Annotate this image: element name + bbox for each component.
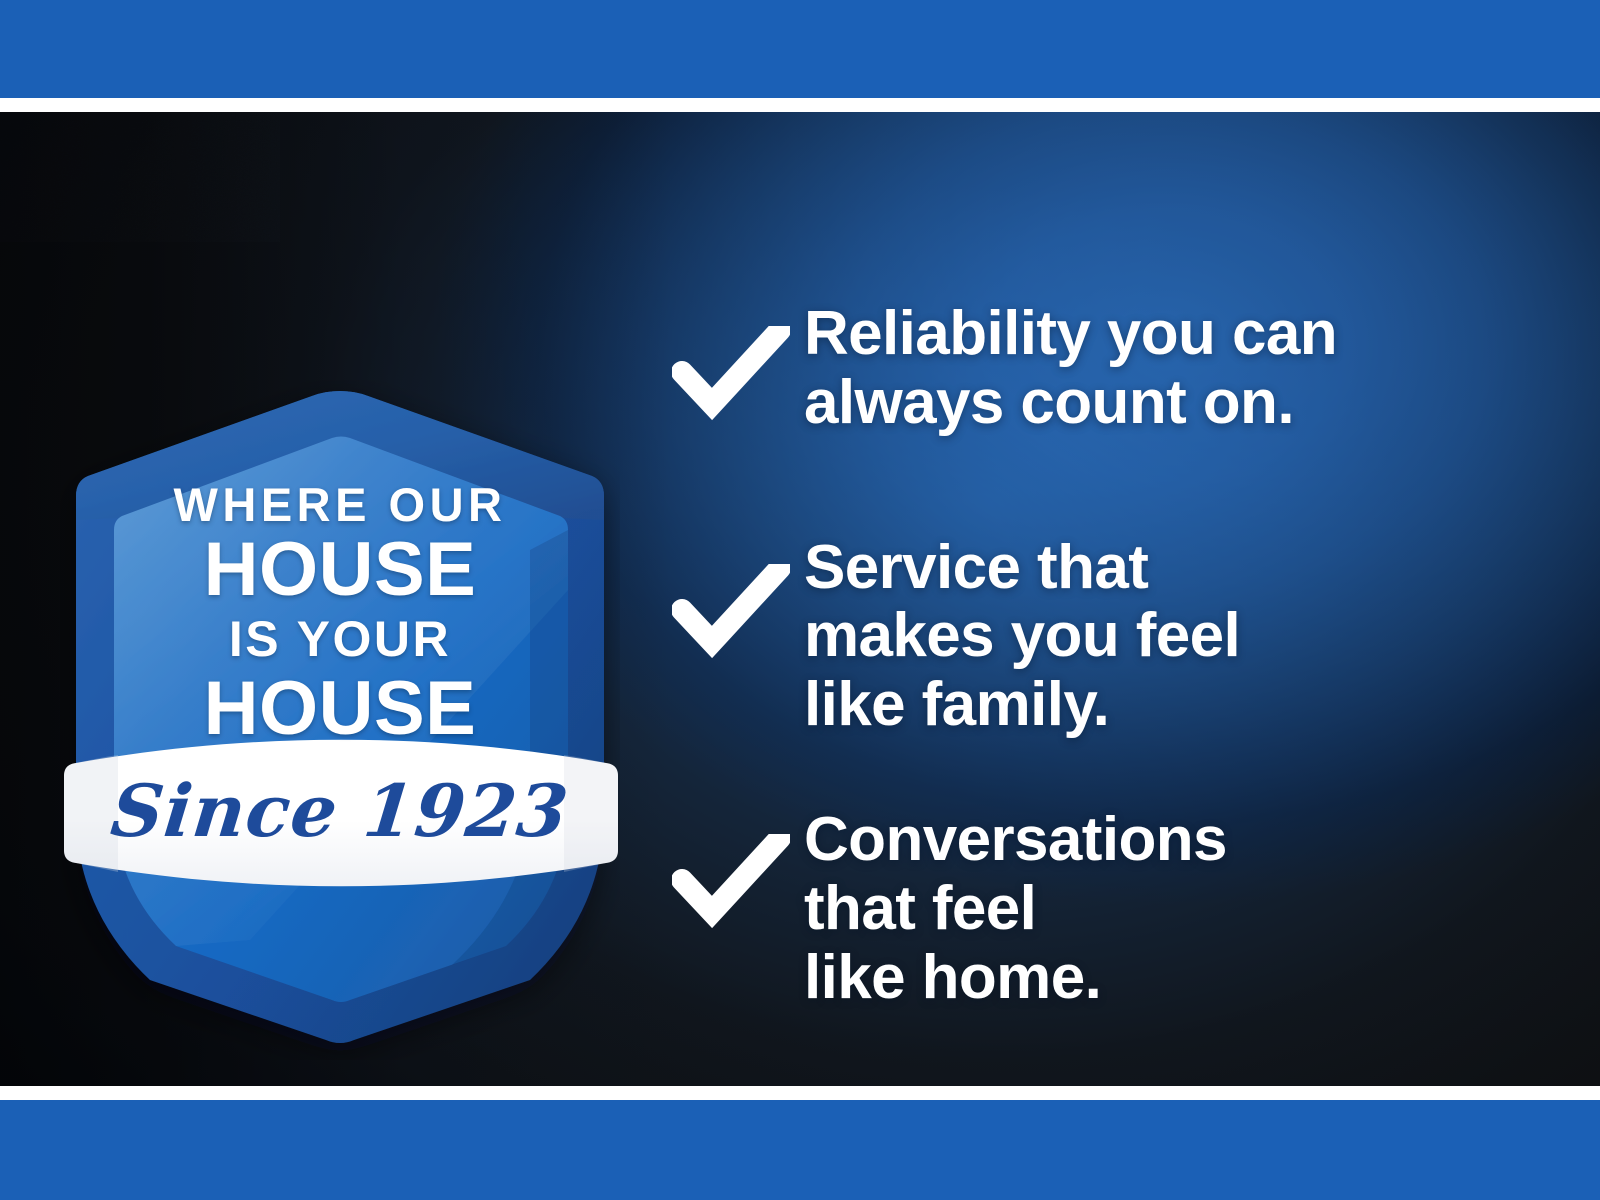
- benefit-line: Conversations: [804, 806, 1502, 875]
- top-accent-bar: [0, 0, 1600, 98]
- benefit-line: that feel: [804, 875, 1502, 944]
- benefit-line: always count on.: [804, 369, 1502, 438]
- benefit-line: Reliability you can: [804, 300, 1502, 369]
- grain-texture: [0, 112, 280, 242]
- benefit-text: Conversations that feel like home.: [804, 806, 1502, 1012]
- checkmark-icon: [672, 300, 804, 430]
- shield-badge: WHERE OUR HOUSE IS YOUR HOUSE Since 1923: [60, 380, 620, 1060]
- badge-line-is-your: IS YOUR: [60, 614, 620, 664]
- checkmark-icon: [672, 806, 804, 938]
- benefit-text: Reliability you can always count on.: [804, 300, 1502, 438]
- bottom-accent-bar: [0, 1100, 1600, 1200]
- badge-ribbon-text: Since 1923: [56, 775, 624, 847]
- list-item: Service that makes you feel like family.: [672, 534, 1502, 740]
- hero-canvas: WHERE OUR HOUSE IS YOUR HOUSE Since 1923…: [0, 112, 1600, 1086]
- badge-line-where: WHERE OUR: [60, 481, 620, 528]
- badge-line-house-2: HOUSE: [60, 671, 620, 747]
- checkmark-icon: [672, 534, 804, 668]
- benefit-text: Service that makes you feel like family.: [804, 534, 1502, 740]
- benefit-line: like home.: [804, 944, 1502, 1013]
- benefit-line: makes you feel: [804, 602, 1502, 671]
- badge-line-house-1: HOUSE: [60, 532, 620, 608]
- benefits-list: Reliability you can always count on. Ser…: [672, 300, 1502, 1013]
- promotional-card: WHERE OUR HOUSE IS YOUR HOUSE Since 1923…: [0, 0, 1600, 1200]
- list-item: Reliability you can always count on.: [672, 300, 1502, 438]
- benefit-line: Service that: [804, 534, 1502, 603]
- benefit-line: like family.: [804, 671, 1502, 740]
- list-item: Conversations that feel like home.: [672, 806, 1502, 1012]
